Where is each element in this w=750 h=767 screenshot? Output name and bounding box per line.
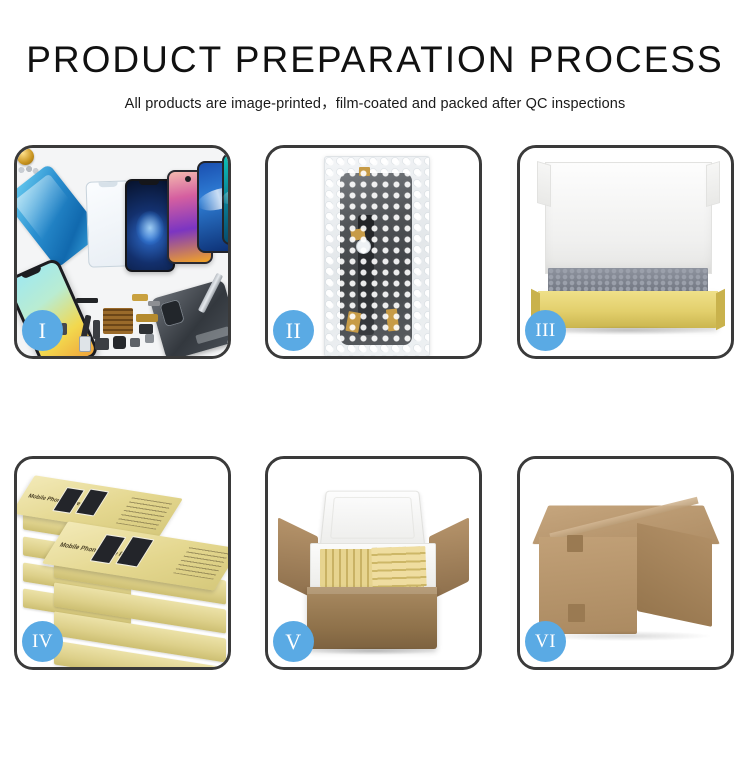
phone-back-shell — [150, 279, 228, 356]
carton-drop-shadow — [310, 647, 436, 655]
spare-part-chip — [132, 294, 148, 301]
carton-front-face — [539, 537, 637, 634]
spare-part-chip — [95, 338, 109, 350]
process-step-4: Mobile Phone Spare Parts Mobile Phone Sp… — [14, 456, 231, 670]
box-label-spec-lines — [116, 497, 172, 529]
page-header: PRODUCT PREPARATION PROCESS All products… — [0, 0, 750, 113]
process-row-1: I II — [14, 145, 744, 365]
tape-piece — [359, 167, 370, 176]
gold-coil-part — [17, 148, 34, 165]
spare-part-chip — [76, 298, 98, 303]
step-number-badge-3: III — [525, 310, 566, 351]
carton-side-face — [637, 523, 712, 627]
white-box-lid — [545, 162, 712, 274]
flex-cable-part — [93, 320, 100, 339]
carton-tab — [568, 604, 585, 622]
process-steps-grid: I II — [14, 145, 744, 767]
step-number-badge-4: IV — [22, 621, 63, 662]
tape-piece — [386, 308, 399, 331]
gold-flex-part — [136, 314, 158, 322]
box-label-spec-lines — [173, 547, 228, 579]
step-number-badge-5: V — [273, 621, 314, 662]
process-step-3: III — [517, 145, 734, 359]
spare-part-chip — [139, 324, 153, 334]
bubble-wrap-bag — [324, 156, 430, 356]
teal-wave-phone — [222, 153, 228, 245]
sim-tray-part — [79, 336, 91, 352]
process-step-2: II — [265, 145, 482, 359]
connector-grid-part — [103, 308, 133, 334]
step-number-badge-1: I — [22, 310, 63, 351]
page-subtitle: All products are image-printed，film-coat… — [0, 92, 750, 113]
carton-body — [307, 587, 437, 649]
process-step-5: V — [265, 456, 482, 670]
carton-drop-shadow — [542, 631, 710, 641]
page-title: PRODUCT PREPARATION PROCESS — [0, 41, 750, 78]
yellow-boxes-inside — [371, 546, 426, 588]
spare-part-chip — [148, 301, 160, 306]
spare-part-chip — [130, 338, 140, 347]
yellow-mailer-box-base — [538, 291, 718, 328]
product-preparation-process-page: PRODUCT PREPARATION PROCESS All products… — [0, 0, 750, 750]
process-row-2: Mobile Phone Spare Parts Mobile Phone Sp… — [14, 456, 744, 676]
box-drop-shadow — [542, 326, 714, 335]
wrapped-part-circle — [356, 239, 371, 254]
camera-module-part — [113, 336, 126, 349]
step-number-badge-6: VI — [525, 621, 566, 662]
tape-piece — [350, 228, 365, 241]
carton-tab — [567, 535, 583, 552]
process-step-6: VI — [517, 456, 734, 670]
spare-part-chip — [145, 334, 154, 343]
styrofoam-lid — [320, 491, 426, 547]
process-step-1: I — [14, 145, 231, 359]
step-number-badge-2: II — [273, 310, 314, 351]
